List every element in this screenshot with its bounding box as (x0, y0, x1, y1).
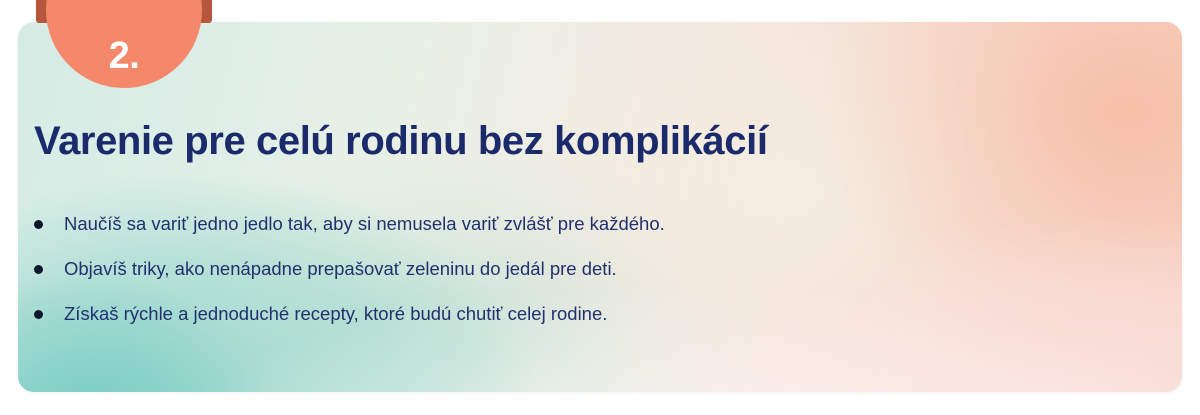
list-item: Naučíš sa variť jedno jedlo tak, aby si … (34, 212, 665, 236)
page-title: Varenie pre celú rodinu bez komplikácií (34, 118, 768, 164)
bullet-dot-icon (34, 265, 43, 274)
list-item: Získaš rýchle a jednoduché recepty, ktor… (34, 302, 665, 326)
list-item-label: Získaš rýchle a jednoduché recepty, ktor… (64, 302, 607, 326)
bullet-dot-icon (34, 310, 43, 319)
workshop-number-badge: Workshop 2. (36, 0, 212, 90)
badge-arc-text: Workshop (79, 10, 169, 12)
badge-semicircle: Workshop 2. (46, 0, 202, 88)
badge-label: Workshop (79, 10, 169, 12)
benefits-list: Naučíš sa variť jedno jedlo tak, aby si … (34, 212, 665, 326)
list-item-label: Objavíš triky, ako nenápadne prepašovať … (64, 257, 617, 281)
badge-inner: Workshop 2. (46, 0, 202, 88)
workshop-card-stage: Varenie pre celú rodinu bez komplikácií … (0, 0, 1200, 415)
badge-number: 2. (46, 36, 202, 76)
bullet-dot-icon (34, 220, 43, 229)
list-item-label: Naučíš sa variť jedno jedlo tak, aby si … (64, 212, 665, 236)
list-item: Objavíš triky, ako nenápadne prepašovať … (34, 257, 665, 281)
